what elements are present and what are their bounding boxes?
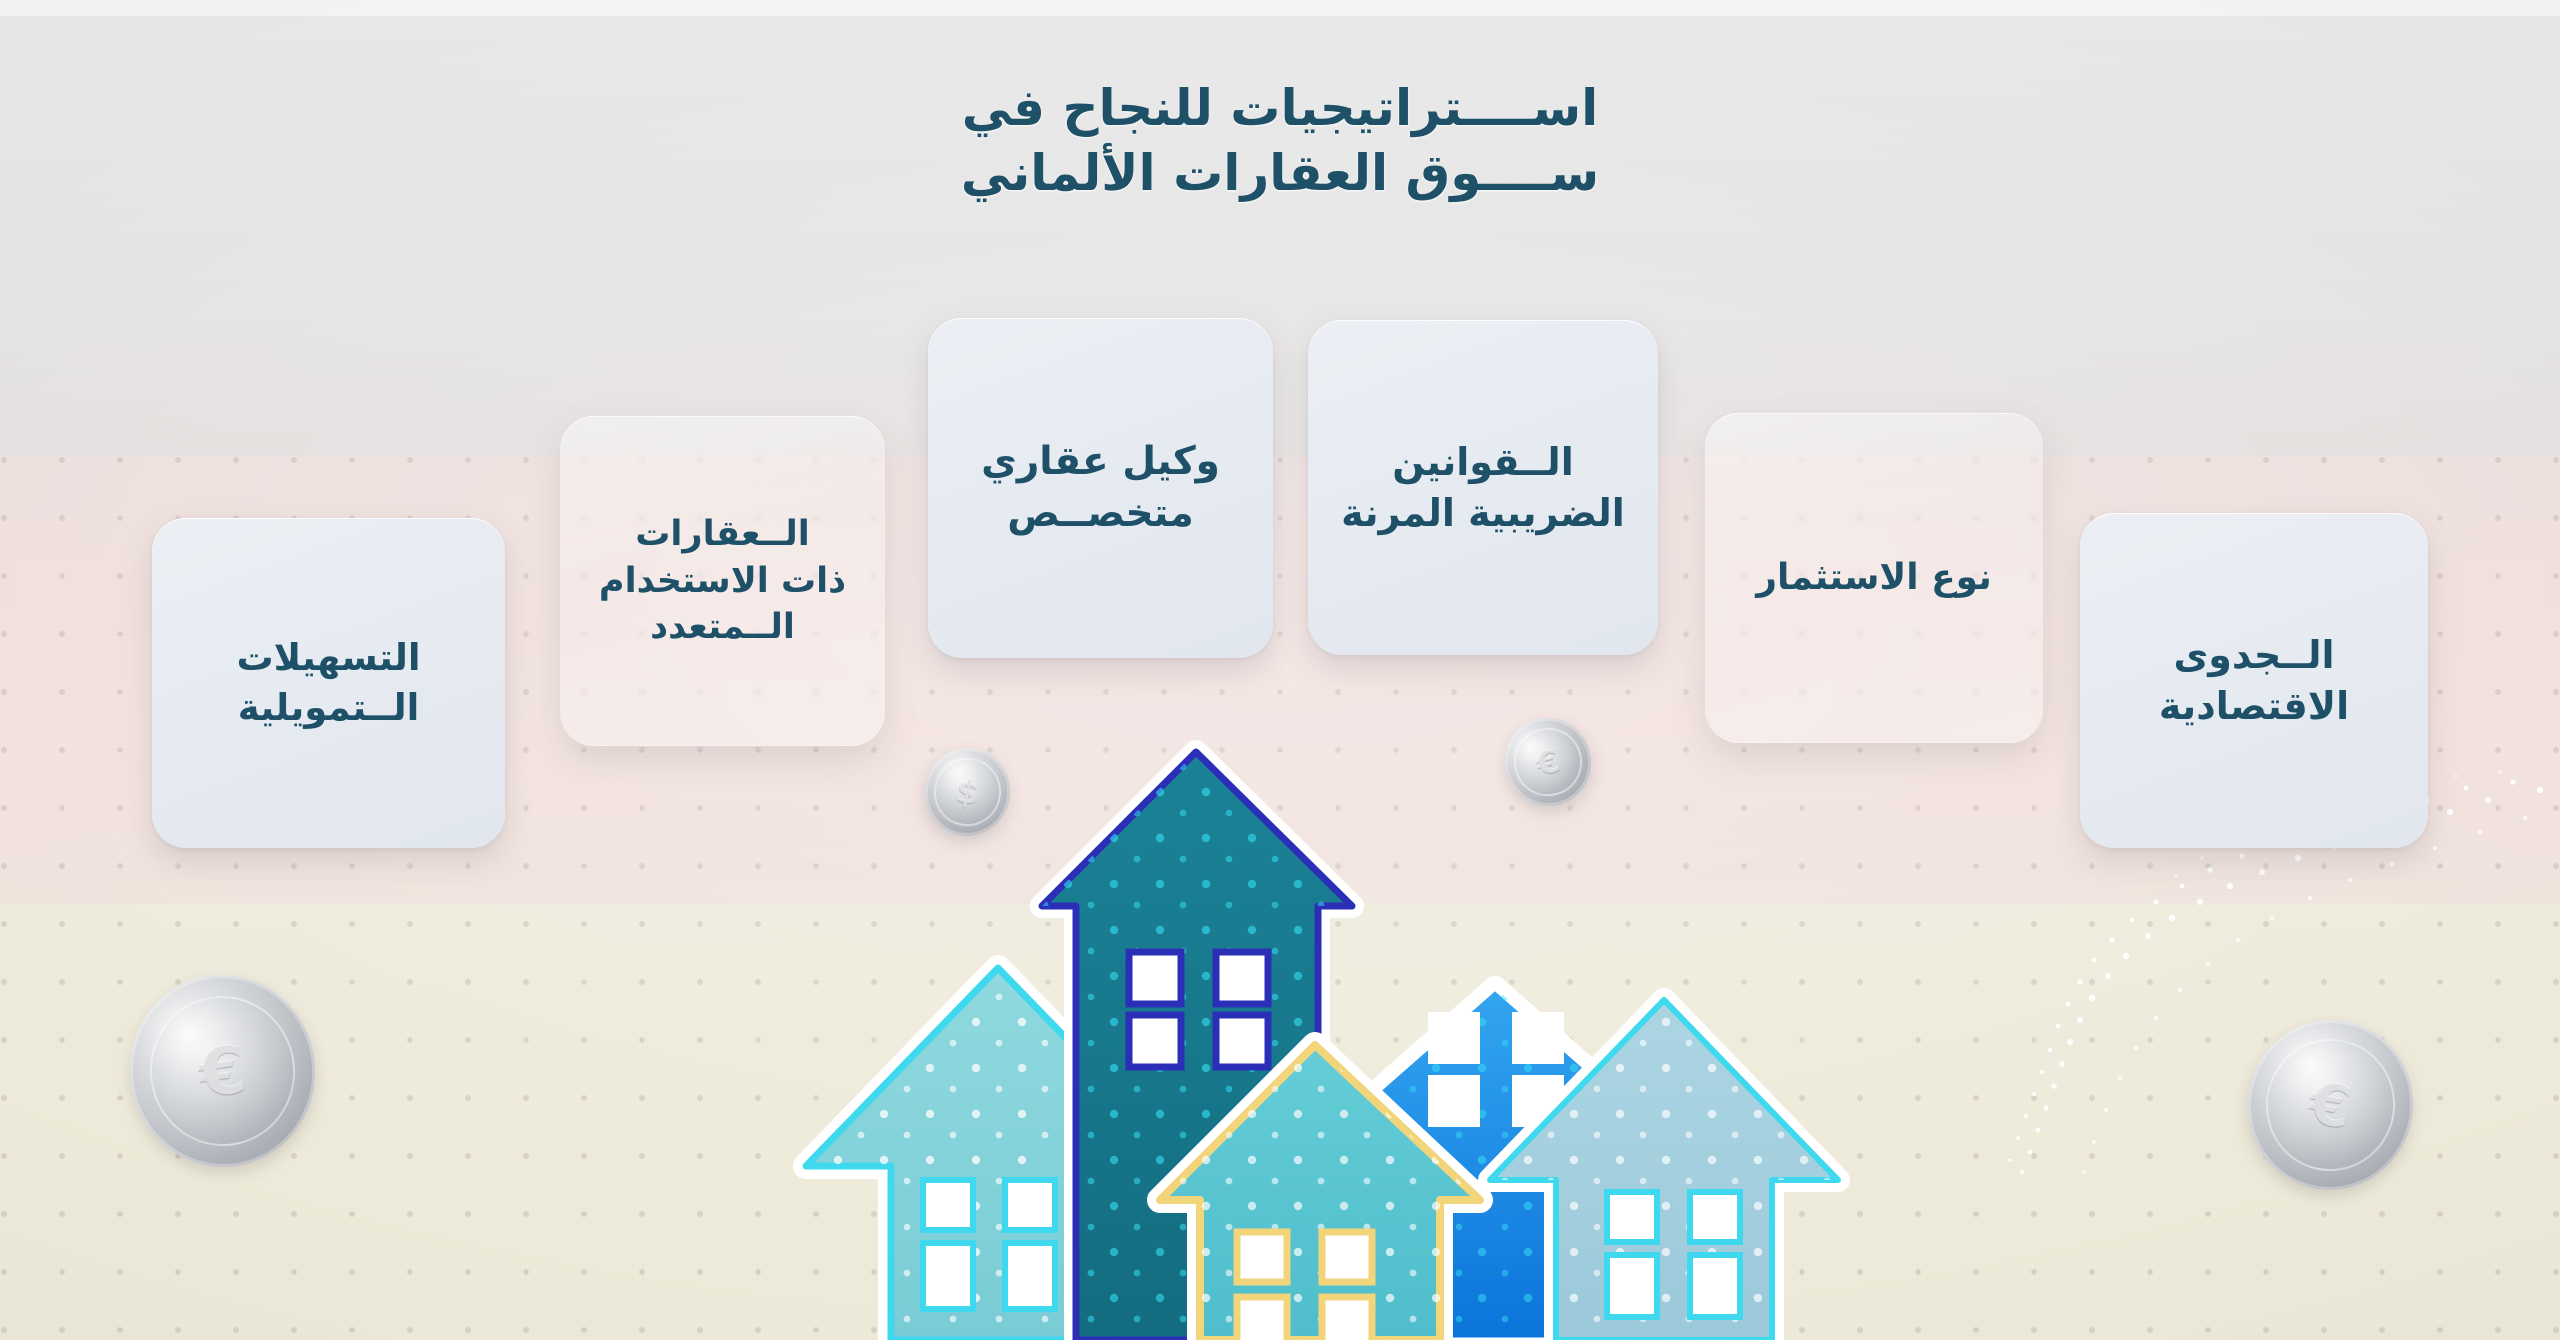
coin-symbol: $: [917, 740, 1018, 844]
card-label: الــقوانين الضريبية المرنة: [1341, 437, 1625, 539]
page-title-line-2: ســــوق العقارات الألماني: [0, 141, 2560, 206]
coin-symbol: €: [2236, 1008, 2426, 1202]
background-band-top-strip: [0, 0, 2560, 16]
coin-left-lower: €: [118, 963, 328, 1179]
card-mixed-use-properties[interactable]: الــعقارات ذات الاستخدام الــمتعدد: [560, 416, 885, 746]
infographic-canvas: € $ € €: [0, 0, 2560, 1340]
background-band-cream: [0, 904, 2560, 1340]
card-investment-type[interactable]: نوع الاستثمار: [1705, 413, 2043, 743]
page-title-line-1: اســــتراتيجيات للنجاح في: [0, 76, 2560, 141]
coin-right-lower: €: [2236, 1008, 2426, 1202]
card-label: وكيل عقاري متخصــص: [981, 436, 1220, 541]
coin-symbol: €: [118, 963, 328, 1179]
card-financing-facilities[interactable]: التسهيلات الــتمويلية: [152, 518, 505, 848]
card-label: التسهيلات الــتمويلية: [236, 633, 420, 732]
card-label: الــجدوى الاقتصادية: [2159, 630, 2349, 732]
card-label: الــعقارات ذات الاستخدام الــمتعدد: [599, 511, 846, 652]
page-title: اســــتراتيجيات للنجاح في ســــوق العقار…: [0, 76, 2560, 206]
card-specialized-real-estate-agent[interactable]: وكيل عقاري متخصــص: [928, 318, 1273, 658]
card-label: نوع الاستثمار: [1756, 554, 1992, 602]
card-flexible-tax-laws[interactable]: الــقوانين الضريبية المرنة: [1308, 320, 1658, 655]
card-economic-feasibility[interactable]: الــجدوى الاقتصادية: [2080, 513, 2428, 848]
coin-center-left: $: [917, 740, 1018, 844]
